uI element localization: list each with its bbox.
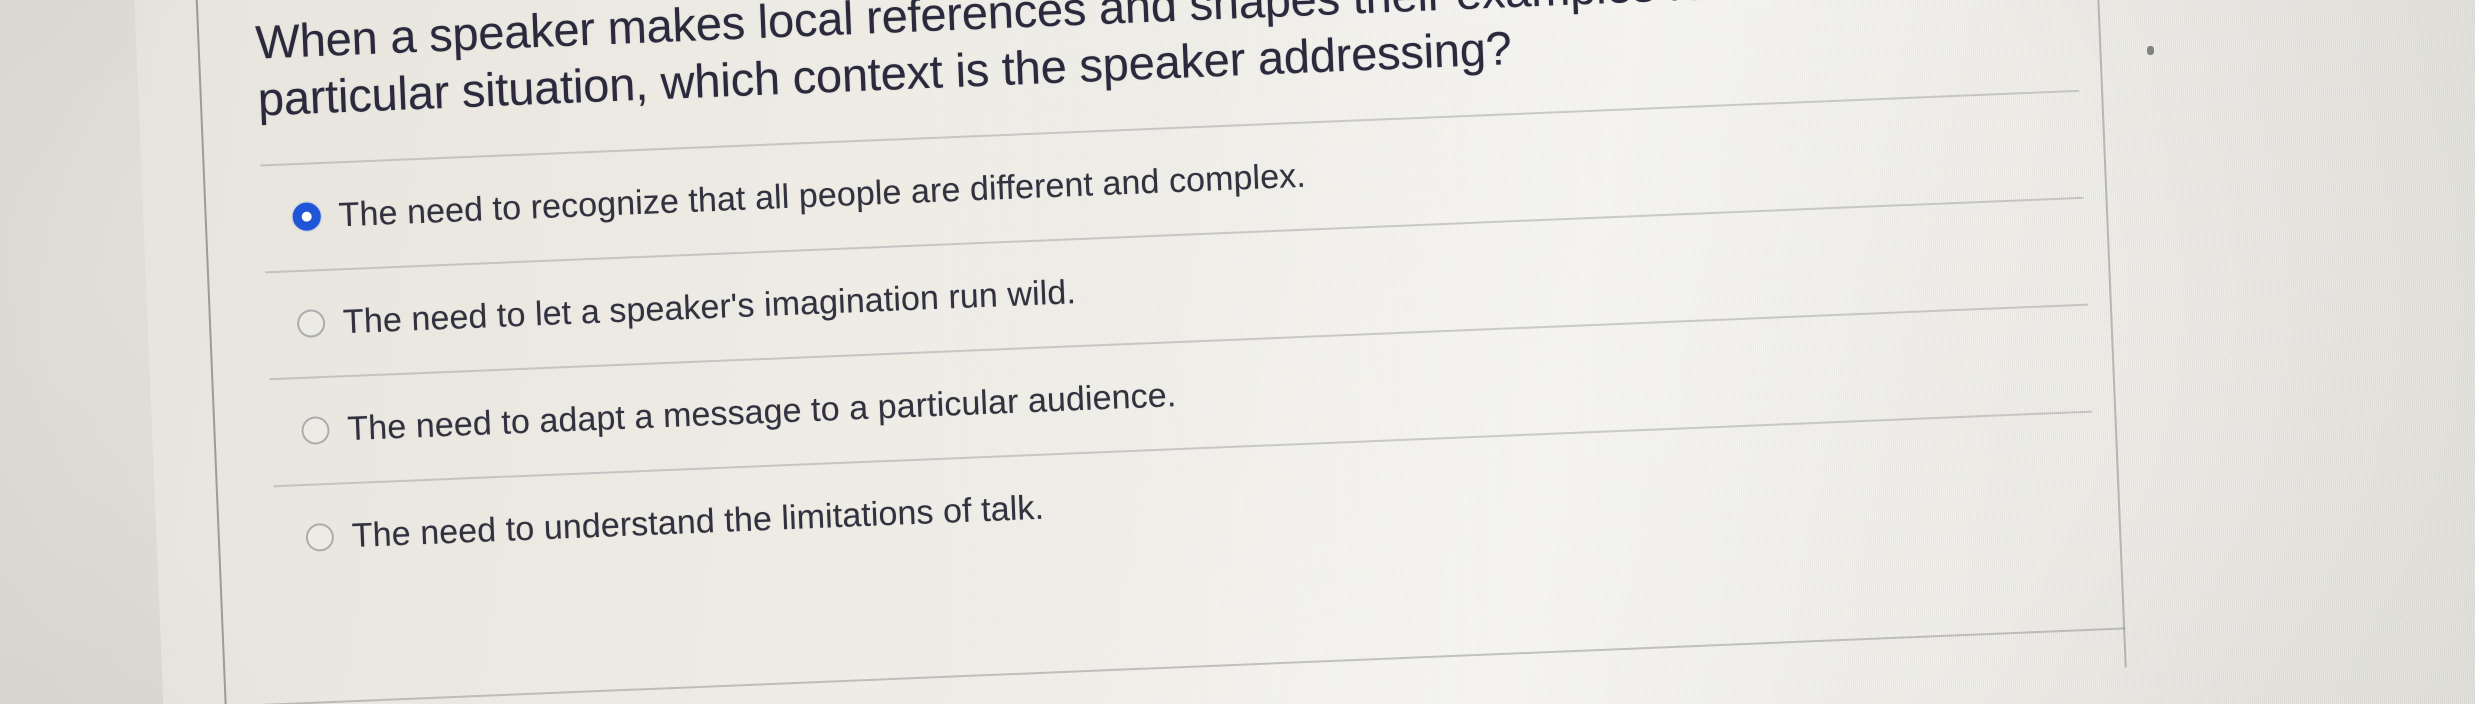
- radio-unselected-icon[interactable]: [305, 523, 334, 552]
- quiz-card: When a speaker makes local references an…: [196, 0, 2422, 695]
- answer-option-2-label: The need to let a speaker's imagination …: [342, 273, 1076, 342]
- card-border-right: [2093, 0, 2127, 667]
- dust-speck: [2147, 46, 2154, 55]
- radio-unselected-icon[interactable]: [297, 309, 326, 338]
- radio-selected-icon[interactable]: [292, 202, 321, 231]
- answer-options-list: The need to recognize that all people ar…: [261, 90, 2097, 592]
- answer-option-3-label: The need to adapt a message to a particu…: [347, 376, 1177, 449]
- answer-option-4-label: The need to understand the limitations o…: [351, 488, 1045, 555]
- answer-option-1-label: The need to recognize that all people ar…: [338, 156, 1307, 235]
- radio-unselected-icon[interactable]: [301, 416, 330, 445]
- quiz-screenshot: When a speaker makes local references an…: [0, 0, 2475, 704]
